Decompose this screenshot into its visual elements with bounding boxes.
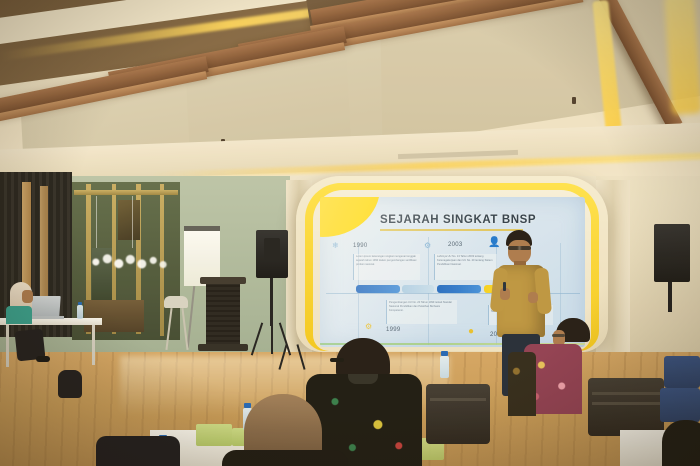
chandelier-drop-2 xyxy=(132,196,133,248)
blue-stacking-chair-1 xyxy=(664,356,700,388)
podium-top xyxy=(200,277,246,284)
attendee-center-collar xyxy=(348,374,378,384)
presenter-eyeglasses xyxy=(508,246,531,250)
pa-speaker-cone xyxy=(264,238,280,260)
presentation-room-photo: SEJARAH SINGKAT BNSP ❄ 1990 Lorem ipsum … xyxy=(0,0,700,466)
attendee-right-foreground-head xyxy=(662,420,700,466)
attendee-right-pink-eyeglasses xyxy=(552,334,565,337)
presenter-remote xyxy=(503,282,506,291)
chair-right-1-slat xyxy=(592,392,660,395)
pa-speaker-wall-mounted xyxy=(654,224,690,282)
water-bottle-front-2 xyxy=(440,356,449,378)
bar-stool xyxy=(164,296,188,308)
flipchart-clamp xyxy=(184,226,220,231)
black-backpack xyxy=(58,370,82,398)
chair-center-right-slat xyxy=(430,398,486,401)
water-bottle-front-2-cap xyxy=(441,351,448,356)
water-bottle-operator xyxy=(77,305,83,319)
operator-top xyxy=(6,306,32,324)
blue-stacking-chair-2 xyxy=(660,388,700,422)
attendee-center-eyeglasses-arm xyxy=(330,358,344,362)
attendee-right-edge-batik xyxy=(508,352,536,416)
chair-center-right xyxy=(426,384,490,444)
presenter-hand-right xyxy=(528,292,538,303)
pa-speaker-right-mount xyxy=(668,282,672,312)
chair-right-1-slat-2 xyxy=(592,402,660,405)
laptop-base xyxy=(28,316,64,319)
pa-speaker-pole xyxy=(270,278,273,326)
operator-table-leg-2 xyxy=(92,325,95,365)
operator-shoe xyxy=(36,356,50,362)
chair-right-1 xyxy=(588,378,664,436)
pa-speaker-tripod-leg-3 xyxy=(271,322,273,354)
operator-table-leg-1 xyxy=(6,325,9,367)
operator-face xyxy=(22,290,33,303)
decorative-artwork xyxy=(118,200,140,240)
crystal-chandelier xyxy=(86,246,168,278)
attendee-bald-shoulders xyxy=(222,450,348,466)
podium-base xyxy=(198,344,248,351)
lectern-podium xyxy=(206,282,240,350)
chair-foreground-left xyxy=(96,436,180,466)
chandelier-drop-1 xyxy=(96,196,97,248)
open-laptop xyxy=(29,296,60,317)
snack-box-1 xyxy=(196,424,232,446)
sprinkler-head-1 xyxy=(572,97,576,104)
wood-slat-2 xyxy=(40,186,48,298)
gold-trim-horizontal xyxy=(74,190,178,195)
water-bottle-operator-cap xyxy=(78,302,82,305)
water-bottle-front-1-cap xyxy=(244,403,251,408)
